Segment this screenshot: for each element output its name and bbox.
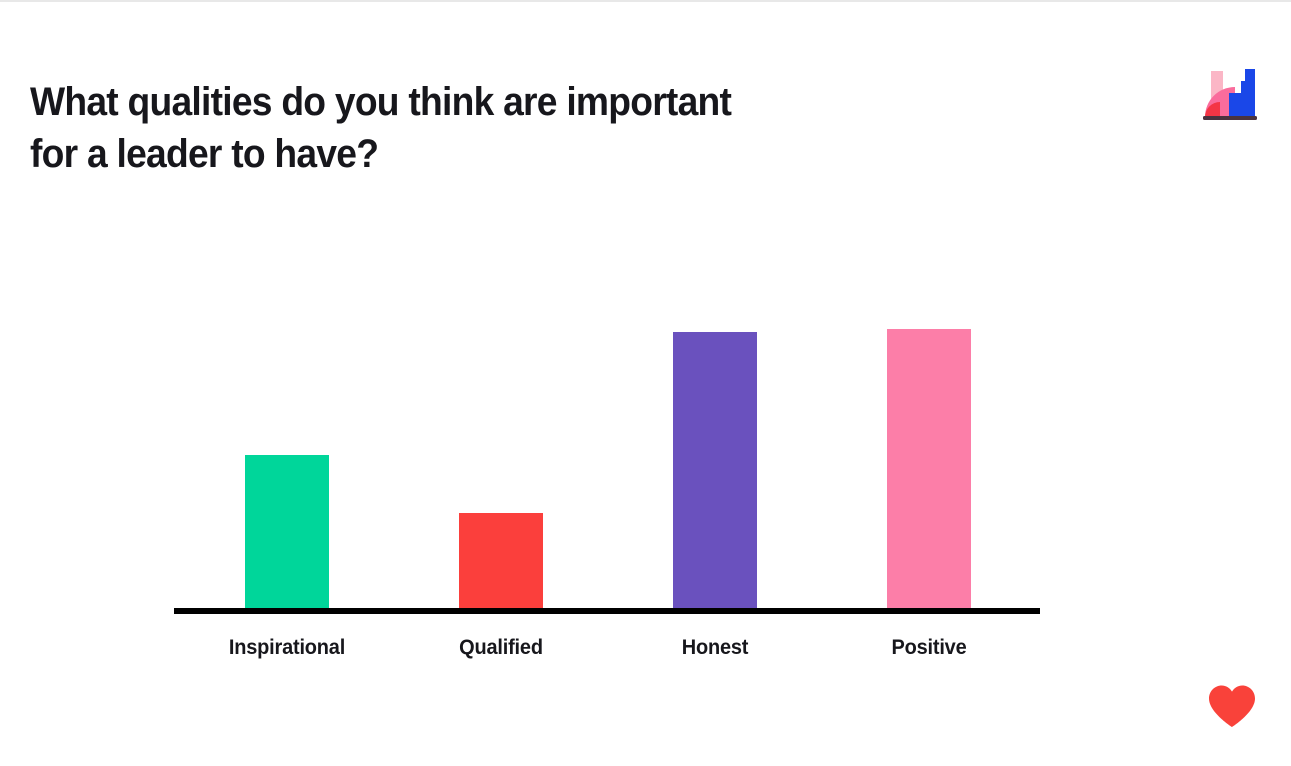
x-axis-line [174, 608, 1040, 614]
bar-inspirational [245, 455, 329, 610]
bar-honest [673, 332, 757, 610]
x-tick-label-3: Positive [815, 636, 1043, 660]
heart-icon [1207, 684, 1257, 730]
presentation-slide: What qualities do you think are importan… [0, 0, 1291, 766]
x-tick-label-1: Qualified [387, 636, 615, 660]
x-tick-label-0: Inspirational [173, 636, 401, 660]
bar-positive [887, 329, 971, 610]
bar-qualified [459, 513, 543, 610]
x-tick-label-2: Honest [601, 636, 829, 660]
bar-chart: Inspirational Qualified Honest Positive [0, 2, 1291, 766]
